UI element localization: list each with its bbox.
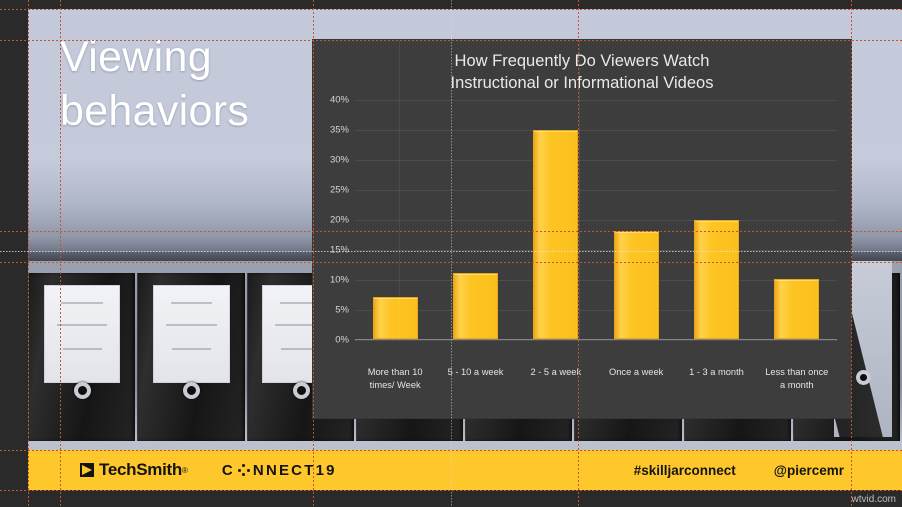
y-axis-tick-label: 25% [330, 185, 349, 196]
y-axis-tick-label: 35% [330, 125, 349, 136]
techsmith-mark-icon [80, 463, 94, 477]
binder-ring-hole [74, 382, 91, 399]
x-axis-tick-label: 1 - 3 a month [676, 366, 756, 392]
binder-label [44, 285, 121, 383]
slide-canvas: Viewing behaviors How Frequently Do View… [0, 0, 902, 507]
bar-slot [355, 100, 435, 339]
y-axis-tick-label: 5% [335, 305, 349, 316]
binder-ring-hole [856, 370, 871, 385]
bar-slot [435, 100, 515, 339]
x-axis-tick-label: More than 10times/ Week [355, 366, 435, 392]
x-axis-tick-label: 2 - 5 a week [516, 366, 596, 392]
chart-vertical-separator [399, 40, 400, 340]
binder-ring-hole [183, 382, 200, 399]
x-axis-tick-label: 5 - 10 a week [435, 366, 515, 392]
bar-slot [596, 100, 676, 339]
x-axis-tick-label: Once a week [596, 366, 676, 392]
x-axis-line [355, 339, 837, 340]
bar-slot [516, 100, 596, 339]
page-title-line-2: behaviors [60, 84, 320, 138]
bar [533, 130, 578, 339]
binder-ring-hole [293, 382, 310, 399]
registered-trademark-icon: ® [182, 466, 188, 475]
page-title-line-1: Viewing [60, 30, 320, 84]
bar [774, 279, 819, 339]
bar-series [355, 100, 837, 339]
y-axis-tick-label: 10% [330, 275, 349, 286]
chart-vertical-separator [579, 40, 580, 340]
social-tags: #skilljarconnect @piercemr [634, 463, 844, 478]
chart-title-line-2: Instructional or Informational Videos [313, 72, 851, 94]
y-axis-tick-label: 40% [330, 95, 349, 106]
bar-slot [757, 100, 837, 339]
bar [694, 220, 739, 340]
connect-prefix: C [222, 462, 235, 479]
dot-matrix-icon [238, 464, 250, 476]
chart-title-line-1: How Frequently Do Viewers Watch [313, 50, 851, 72]
event-hashtag: #skilljarconnect [634, 463, 736, 478]
binder [28, 273, 135, 441]
x-axis-labels: More than 10times/ Week5 - 10 a week2 - … [355, 366, 837, 392]
chart-title: How Frequently Do Viewers Watch Instruct… [313, 40, 851, 94]
y-axis-tick-label: 15% [330, 245, 349, 256]
plot-area: 40%35%30%25%20%15%10%5%0% [355, 100, 837, 340]
guide-line-horizontal [0, 490, 902, 491]
speaker-handle: @piercemr [774, 463, 844, 478]
bar-slot [676, 100, 756, 339]
footer-bar: TechSmith® C NNECT19 #skilljarconnect @p… [28, 450, 902, 490]
binder [137, 273, 244, 441]
y-axis-tick-label: 30% [330, 155, 349, 166]
techsmith-wordmark: TechSmith [99, 460, 182, 480]
y-axis-tick-label: 20% [330, 215, 349, 226]
page-title: Viewing behaviors [60, 30, 320, 138]
bar [453, 273, 498, 339]
x-axis-tick-label: Less than oncea month [757, 366, 837, 392]
gridline [355, 340, 837, 341]
watermark: wtvid.com [852, 494, 896, 505]
bar [373, 297, 418, 339]
y-axis-tick-label: 0% [335, 335, 349, 346]
chart-panel: How Frequently Do Viewers Watch Instruct… [313, 40, 851, 418]
techsmith-logo: TechSmith® [80, 460, 188, 480]
connect19-logo: C NNECT19 [222, 462, 337, 479]
binder-label [153, 285, 230, 383]
connect-suffix: NNECT19 [253, 462, 337, 479]
bar [614, 231, 659, 339]
